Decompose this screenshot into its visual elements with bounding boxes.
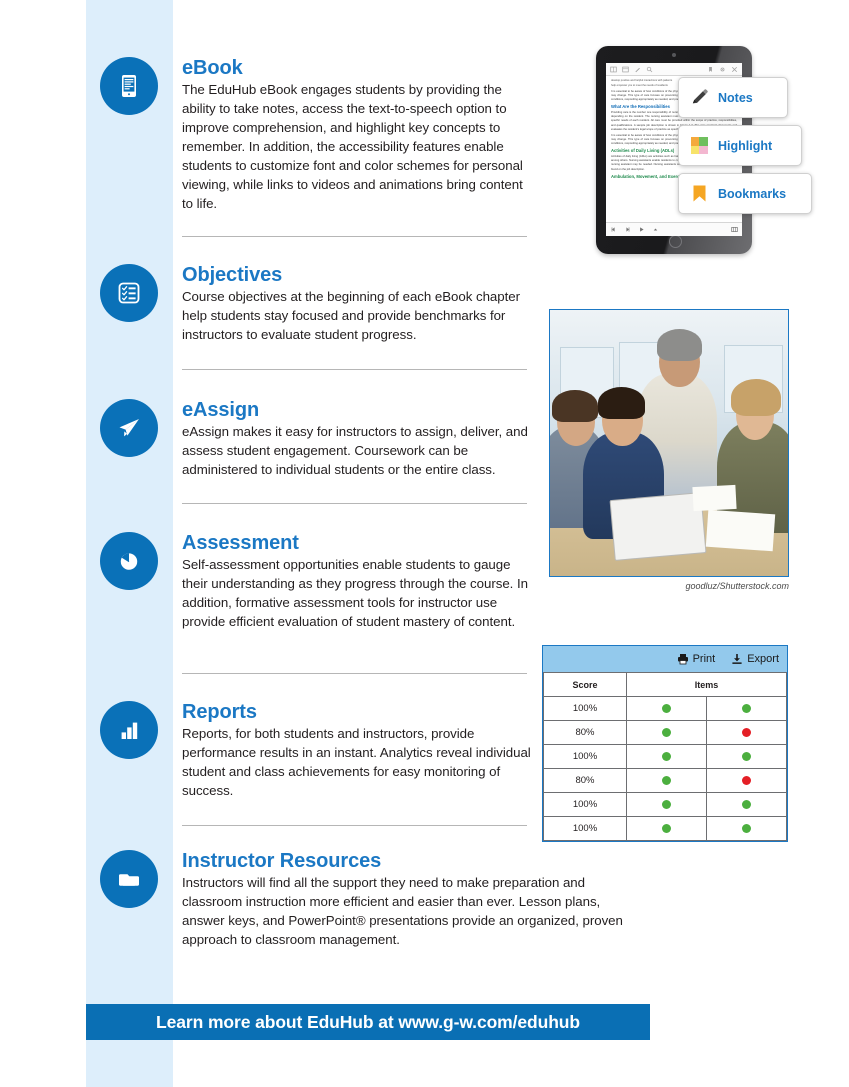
pie-chart-icon <box>100 532 158 590</box>
feature-text: Course objectives at the beginning of ea… <box>182 288 534 345</box>
table-row: 100% <box>544 745 787 769</box>
reports-table-body: 100%80%100%80%100%100% <box>544 697 787 841</box>
item-status-cell <box>627 721 707 745</box>
feature-assessment-body: Assessment Self-assessment opportunities… <box>182 532 534 632</box>
bookmark-icon[interactable] <box>707 66 714 73</box>
section-divider <box>182 825 527 826</box>
feature-text: Self-assessment opportunities enable stu… <box>182 556 534 632</box>
status-dot-correct <box>662 824 671 833</box>
play-icon[interactable] <box>638 226 645 233</box>
feature-text: The EduHub eBook engages students by pro… <box>182 81 534 213</box>
item-status-cell <box>627 745 707 769</box>
feature-title: Instructor Resources <box>182 850 642 872</box>
status-dot-incorrect <box>742 776 751 785</box>
export-button-label: Export <box>747 653 779 665</box>
item-status-cell <box>627 697 707 721</box>
feature-ebook-body: eBook The EduHub eBook engages students … <box>182 57 534 214</box>
score-cell: 100% <box>544 745 627 769</box>
status-dot-correct <box>742 704 751 713</box>
feature-title: Reports <box>182 701 534 723</box>
status-dot-correct <box>742 752 751 761</box>
feature-title: Objectives <box>182 264 534 286</box>
status-dot-correct <box>662 800 671 809</box>
section-divider <box>182 369 527 370</box>
table-row: 100% <box>544 697 787 721</box>
status-dot-correct <box>662 728 671 737</box>
feature-title: eBook <box>182 57 534 79</box>
item-status-cell <box>707 793 787 817</box>
section-divider <box>182 236 527 237</box>
table-row: 100% <box>544 793 787 817</box>
printer-icon <box>677 653 689 665</box>
print-button[interactable]: Print <box>677 653 716 665</box>
score-cell: 80% <box>544 769 627 793</box>
score-cell: 100% <box>544 697 627 721</box>
search-icon[interactable] <box>646 66 653 73</box>
table-row: 80% <box>544 769 787 793</box>
feature-text: eAssign makes it easy for instructors to… <box>182 423 534 480</box>
pencil-icon <box>689 88 709 108</box>
reports-toolbar: Print Export <box>543 646 787 672</box>
export-button[interactable]: Export <box>731 653 779 665</box>
bookmark-icon <box>689 184 709 204</box>
folder-icon <box>100 850 158 908</box>
feature-text: Reports, for both students and instructo… <box>182 725 534 801</box>
item-status-cell <box>627 793 707 817</box>
table-row: 100% <box>544 817 787 841</box>
column-header-score: Score <box>544 673 627 697</box>
grid-icon[interactable] <box>622 66 629 73</box>
ebook-toolbar <box>606 63 742 76</box>
feature-eassign-body: eAssign eAssign makes it easy for instru… <box>182 399 534 480</box>
status-dot-correct <box>662 752 671 761</box>
next-icon[interactable] <box>624 226 631 233</box>
footer-banner[interactable]: Learn more about EduHub at www.g-w.com/e… <box>86 1004 650 1040</box>
highlight-swatches-icon <box>689 136 709 156</box>
section-divider <box>182 673 527 674</box>
status-dot-incorrect <box>742 728 751 737</box>
highlight-card[interactable]: Highlight <box>678 125 802 166</box>
photo-credit: goodluz/Shutterstock.com <box>549 581 789 591</box>
export-icon <box>731 653 743 665</box>
table-header-row: Score Items <box>544 673 787 697</box>
item-status-cell <box>707 697 787 721</box>
classroom-photo <box>549 309 789 577</box>
pencil-icon[interactable] <box>634 66 641 73</box>
score-cell: 100% <box>544 793 627 817</box>
item-status-cell <box>627 769 707 793</box>
prev-icon[interactable] <box>610 226 617 233</box>
notes-card-label: Notes <box>718 91 753 105</box>
score-cell: 100% <box>544 817 627 841</box>
ebook-bottom-bar <box>606 222 742 236</box>
score-cell: 80% <box>544 721 627 745</box>
status-dot-correct <box>662 776 671 785</box>
print-button-label: Print <box>693 653 716 665</box>
item-status-cell <box>707 745 787 769</box>
tablet-camera <box>672 53 676 57</box>
reports-table-head: Score Items <box>544 673 787 697</box>
section-divider <box>182 503 527 504</box>
classroom-photo-figure: goodluz/Shutterstock.com <box>549 309 789 591</box>
status-dot-correct <box>742 800 751 809</box>
bookmarks-card[interactable]: Bookmarks <box>678 173 812 214</box>
item-status-cell <box>627 817 707 841</box>
feature-objectives-body: Objectives Course objectives at the begi… <box>182 264 534 345</box>
ebook-tablet-figure: develop positive and helpful interaction… <box>596 46 754 256</box>
feature-reports-body: Reports Reports, for both students and i… <box>182 701 534 801</box>
status-dot-correct <box>662 704 671 713</box>
reports-table: Print Export Score Items 100%80%100%80%1… <box>542 645 788 842</box>
reports-data-table: Score Items 100%80%100%80%100%100% <box>543 672 787 841</box>
item-status-cell <box>707 769 787 793</box>
bar-chart-icon <box>100 701 158 759</box>
notes-card[interactable]: Notes <box>678 77 788 118</box>
table-row: 80% <box>544 721 787 745</box>
checklist-icon <box>100 264 158 322</box>
close-icon[interactable] <box>731 66 738 73</box>
tablet-home-button[interactable] <box>669 235 682 248</box>
item-status-cell <box>707 817 787 841</box>
status-dot-correct <box>742 824 751 833</box>
feature-title: eAssign <box>182 399 534 421</box>
column-header-items: Items <box>627 673 787 697</box>
paper-plane-icon <box>100 399 158 457</box>
tablet-ebook-icon <box>100 57 158 115</box>
feature-instructor-resources-body: Instructor Resources Instructors will fi… <box>182 850 642 950</box>
up-icon[interactable] <box>652 226 659 233</box>
book-icon[interactable] <box>610 66 617 73</box>
footer-banner-text: Learn more about EduHub at www.g-w.com/e… <box>156 1012 580 1033</box>
bookmarks-card-label: Bookmarks <box>718 187 786 201</box>
item-status-cell <box>707 721 787 745</box>
feature-title: Assessment <box>182 532 534 554</box>
thumbnail-icon[interactable] <box>731 226 738 233</box>
feature-text: Instructors will find all the support th… <box>182 874 642 950</box>
highlight-card-label: Highlight <box>718 139 772 153</box>
gear-icon[interactable] <box>719 66 726 73</box>
